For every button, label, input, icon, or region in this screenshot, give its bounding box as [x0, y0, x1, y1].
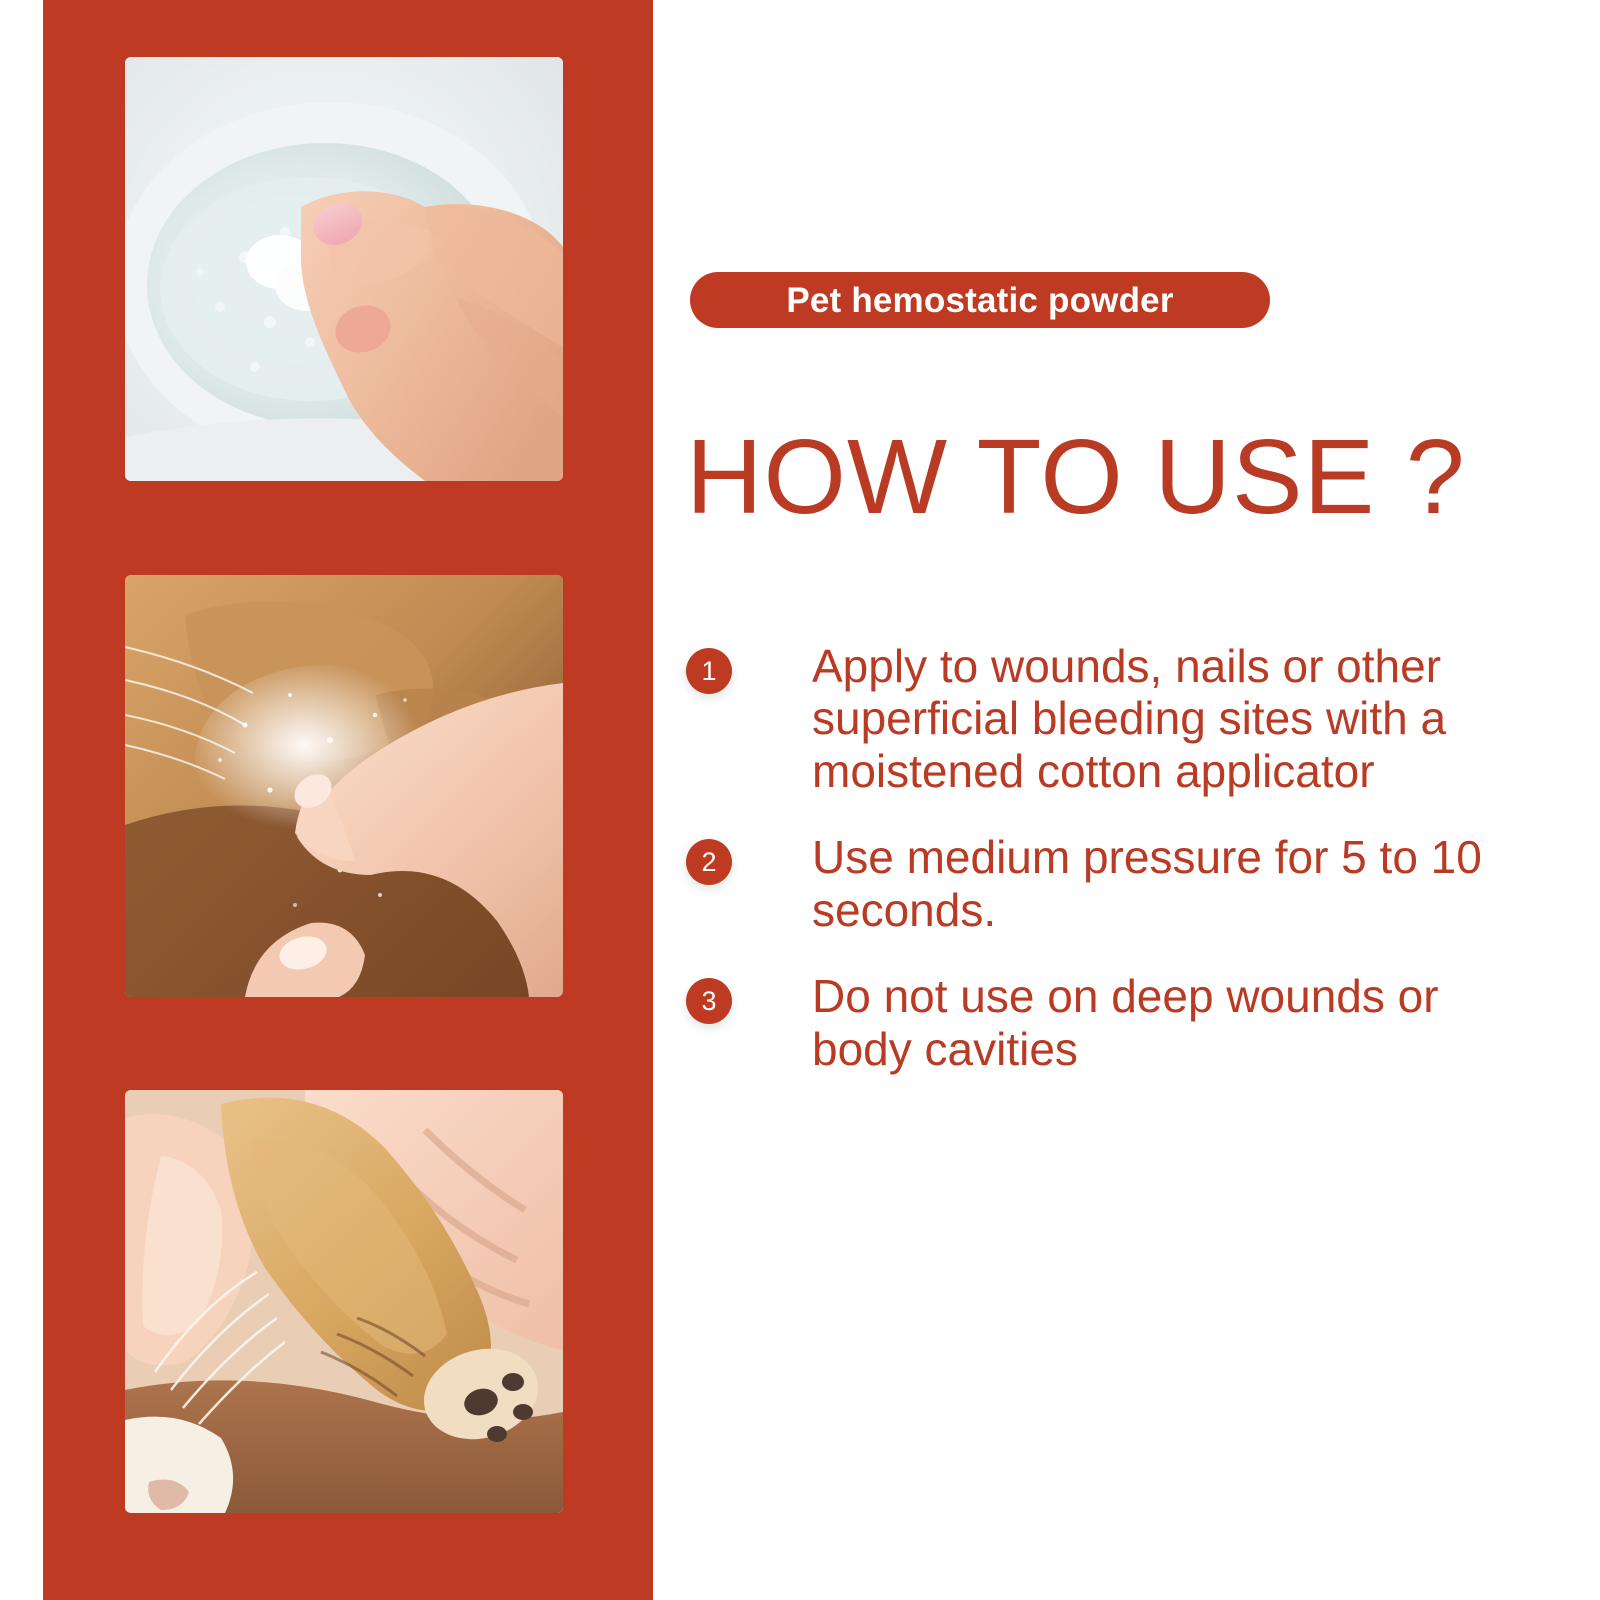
step-text: Use medium pressure for 5 to 10 seconds. — [812, 831, 1532, 936]
step-item: 3 Do not use on deep wounds or body cavi… — [686, 970, 1546, 1075]
photo-applying-powder-to-paw — [125, 575, 563, 997]
step-item: 2 Use medium pressure for 5 to 10 second… — [686, 831, 1546, 936]
step-number-badge: 2 — [686, 839, 732, 885]
photo-powder-jar — [125, 57, 563, 481]
photo-applying-powder-art — [125, 575, 563, 997]
step-number-badge: 3 — [686, 978, 732, 1024]
instruction-panel: Pet hemostatic powder HOW TO USE ? 1 App… — [686, 0, 1546, 1600]
step-number-badge: 1 — [686, 648, 732, 694]
step-text: Do not use on deep wounds or body caviti… — [812, 970, 1532, 1075]
page-title: HOW TO USE ? — [686, 422, 1546, 533]
product-badge-label: Pet hemostatic powder — [786, 283, 1173, 318]
photo-powder-jar-art — [125, 57, 563, 481]
product-badge: Pet hemostatic powder — [690, 272, 1270, 328]
photo-holding-paw-art — [125, 1090, 563, 1513]
step-item: 1 Apply to wounds, nails or other superf… — [686, 640, 1546, 797]
infographic-canvas: Pet hemostatic powder HOW TO USE ? 1 App… — [0, 0, 1600, 1600]
photo-holding-cat-paw — [125, 1090, 563, 1513]
step-text: Apply to wounds, nails or other superfic… — [812, 640, 1532, 797]
steps-list: 1 Apply to wounds, nails or other superf… — [686, 640, 1546, 1075]
